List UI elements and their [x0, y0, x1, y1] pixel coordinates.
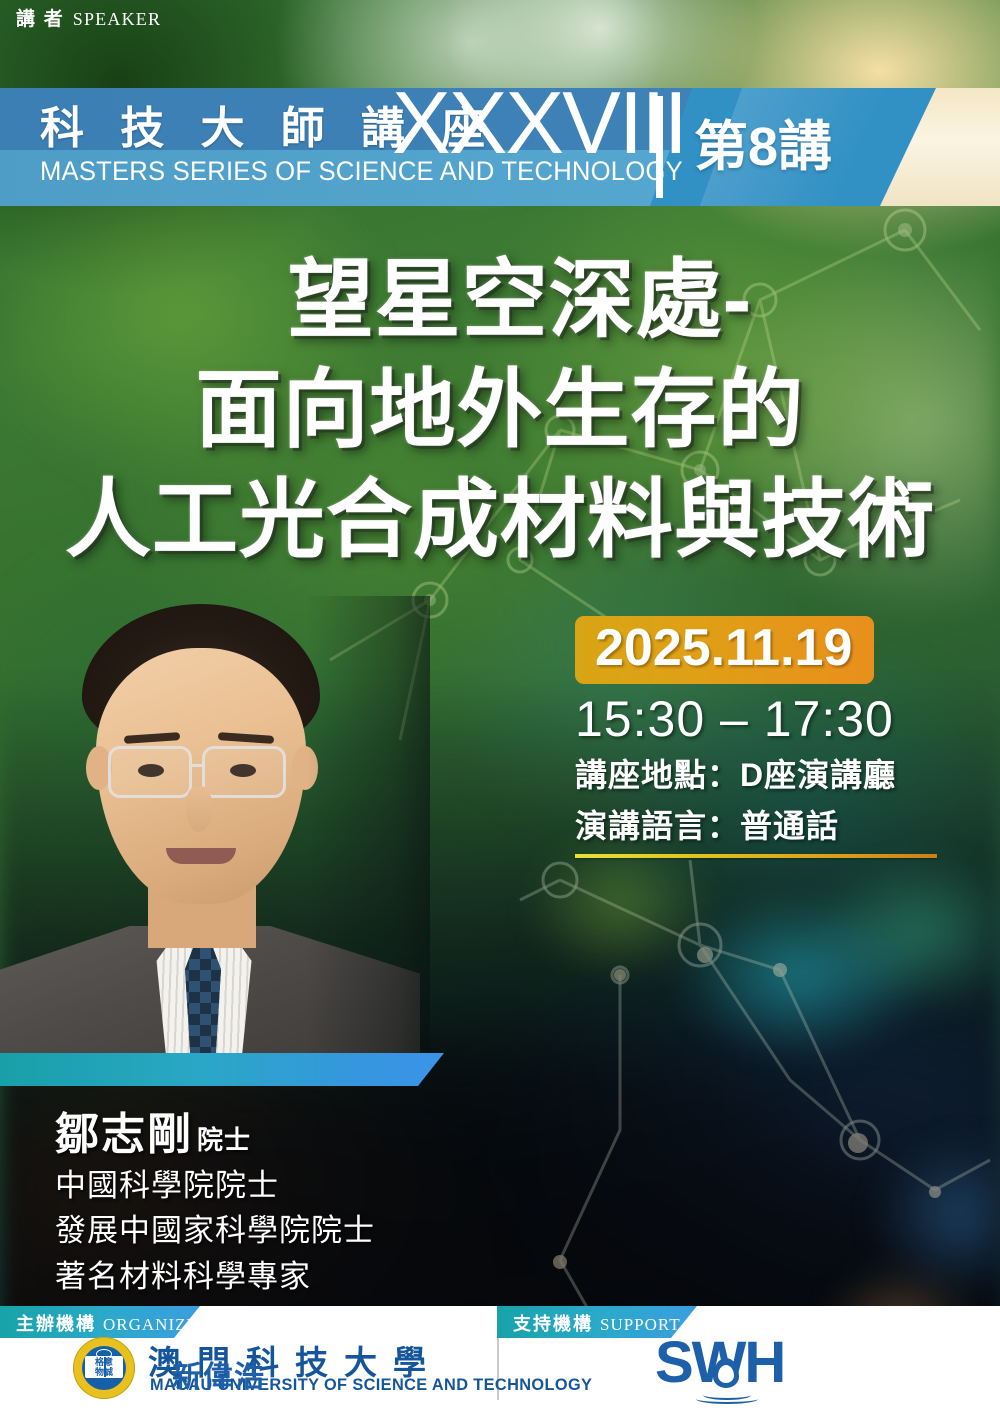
- swh-logo: SWH: [655, 1334, 784, 1392]
- series-title-en: MASTERS SERIES OF SCIENCE AND TECHNOLOGY: [40, 156, 683, 187]
- lecture-title: 望星空深處- 面向地外生存的 人工光合成材料與技術: [0, 245, 1000, 575]
- speaker-name-suffix: 院士: [197, 1125, 251, 1155]
- portrait-mouth: [166, 848, 236, 864]
- event-date-badge: 2025.11.19: [575, 616, 874, 684]
- speaker-band-label-en: SPEAKER: [73, 9, 161, 29]
- speaker-name-text: 鄒志剛: [55, 1110, 193, 1159]
- organizer-tab-label-en: ORGANIZER: [103, 1315, 210, 1334]
- event-poster: 科 技 大 師 講 座 XXXVIII MASTERS SERIES OF SC…: [0, 0, 1000, 1414]
- event-language: 演講語言：普通話: [575, 803, 975, 849]
- speaker-section-band: [0, 1053, 444, 1086]
- speaker-portrait: [0, 596, 410, 1066]
- must-seal-motto: 格意物誠: [86, 1358, 122, 1377]
- organizer-tab-label-cn: 主辦機構: [16, 1314, 96, 1334]
- portrait-eyeglass-left: [108, 746, 192, 798]
- episode-number-badge: 第8講: [694, 102, 832, 181]
- portrait-ear-right: [292, 746, 318, 790]
- lecture-title-line-3: 人工光合成材料與技術: [0, 465, 1000, 575]
- organizer-tab-label: 主辦機構ORGANIZER: [16, 1310, 210, 1336]
- swh-waterdrop-icon: [713, 1358, 739, 1388]
- must-seal-icon: 格意物誠: [73, 1337, 135, 1399]
- speaker-bio-line-2: 發展中國家科學院院士: [55, 1208, 375, 1253]
- speaker-band-label-cn: 講 者: [16, 9, 65, 30]
- event-venue: 講座地點：D座演講廳: [575, 752, 975, 798]
- event-info-panel: 2025.11.19 15:30 – 17:30 講座地點：D座演講廳 演講語言…: [575, 616, 975, 849]
- lecture-title-line-1: 望星空深處-: [0, 245, 1000, 355]
- portrait-eyeglass-bridge: [192, 764, 204, 767]
- portrait-nose: [186, 786, 212, 832]
- lecture-title-line-2: 面向地外生存的: [0, 355, 1000, 465]
- info-gold-divider: [575, 854, 937, 858]
- speaker-bio-line-1: 中國科學院院士: [55, 1163, 375, 1208]
- support-name-cn: 新偉浩: [172, 1352, 265, 1396]
- portrait-eyeglass-right: [202, 746, 286, 798]
- speaker-bio: 中國科學院院士 發展中國家科學院院士 著名材料科學專家: [55, 1163, 375, 1299]
- swh-ripple-icon-2: [696, 1394, 758, 1404]
- support-tab-label-cn: 支持機構: [513, 1314, 593, 1334]
- event-time: 15:30 – 17:30: [575, 690, 975, 748]
- header-banner: 科 技 大 師 講 座 XXXVIII MASTERS SERIES OF SC…: [0, 88, 1000, 206]
- speaker-bio-line-3: 著名材料科學專家: [55, 1254, 375, 1299]
- speaker-name: 鄒志剛院士: [55, 1098, 251, 1162]
- speaker-band-label: 講 者SPEAKER: [16, 4, 161, 31]
